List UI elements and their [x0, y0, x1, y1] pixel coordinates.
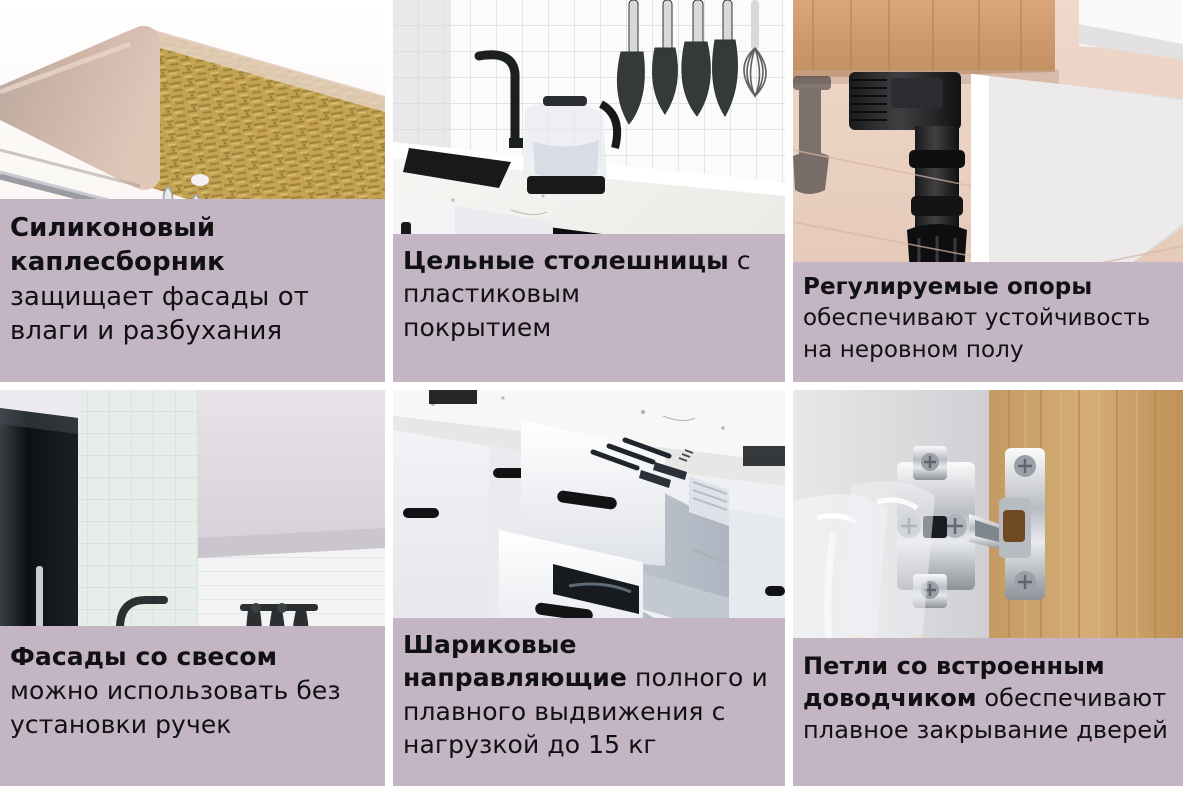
caption-line: на неровном полу	[803, 335, 1173, 366]
caption-bold: Регулируемые опоры	[803, 274, 1092, 300]
caption-bold: каплесборник	[10, 247, 225, 277]
caption-bold: Петли со встроенным	[803, 652, 1105, 680]
caption-regular: плавное закрывание дверей	[803, 716, 1168, 744]
caption-line: направляющие полного и	[403, 661, 775, 694]
caption-bold: доводчиком	[803, 684, 977, 712]
caption-regular: с	[729, 246, 751, 275]
feature-grid: Силиконовый каплесборник защищает фасады…	[0, 0, 1183, 786]
feature-card-overhang-fronts[interactable]: Фасады со свесом можно использовать без …	[0, 390, 385, 786]
card-caption: Шариковые направляющие полного и плавног…	[393, 618, 785, 786]
caption-line: Цельные столешницы с	[403, 244, 775, 277]
caption-line: пластиковым	[403, 277, 775, 310]
caption-line: плавного выдвижения с	[403, 695, 775, 728]
caption-regular: можно использовать без	[10, 676, 341, 705]
caption-bold: Цельные столешницы	[403, 246, 729, 275]
card-caption: Цельные столешницы с пластиковым покрыти…	[393, 234, 785, 382]
caption-line: Фасады со свесом	[10, 640, 375, 674]
caption-line: плавное закрывание дверей	[803, 714, 1173, 746]
caption-line: Шариковые	[403, 628, 775, 661]
caption-line: каплесборник	[10, 245, 375, 279]
caption-line: Регулируемые опоры	[803, 272, 1173, 303]
caption-line: установки ручек	[10, 708, 375, 742]
caption-regular: обеспечивают устойчивость	[803, 305, 1150, 331]
caption-regular: нагрузкой до 15 кг	[403, 730, 657, 759]
caption-regular: пластиковым	[403, 279, 580, 308]
card-caption: Силиконовый каплесборник защищает фасады…	[0, 199, 385, 382]
caption-regular: полного и	[627, 663, 768, 692]
feature-card-drip-catcher[interactable]: Силиконовый каплесборник защищает фасады…	[0, 0, 385, 382]
caption-regular: защищает фасады от	[10, 282, 309, 312]
card-caption: Петли со встроенным доводчиком обеспечив…	[793, 638, 1183, 786]
caption-bold: направляющие	[403, 663, 627, 692]
caption-regular: покрытием	[403, 313, 551, 342]
caption-regular: плавного выдвижения с	[403, 697, 725, 726]
caption-line: влаги и разбухания	[10, 314, 375, 348]
feature-card-solid-countertops[interactable]: Цельные столешницы с пластиковым покрыти…	[393, 0, 785, 382]
caption-line: покрытием	[403, 311, 775, 344]
card-caption: Регулируемые опоры обеспечивают устойчив…	[793, 262, 1183, 382]
caption-regular: установки ручек	[10, 710, 232, 739]
caption-bold: Шариковые	[403, 630, 577, 659]
feature-card-ball-bearing-slides[interactable]: Шариковые направляющие полного и плавног…	[393, 390, 785, 786]
caption-line: можно использовать без	[10, 674, 375, 708]
caption-regular: на неровном полу	[803, 337, 1024, 363]
caption-line: обеспечивают устойчивость	[803, 303, 1173, 334]
caption-line: защищает фасады от	[10, 280, 375, 314]
caption-bold: Фасады со свесом	[10, 642, 277, 671]
feature-card-adjustable-legs[interactable]: Регулируемые опоры обеспечивают устойчив…	[793, 0, 1183, 382]
caption-regular: обеспечивают	[977, 684, 1167, 712]
feature-card-soft-close-hinges[interactable]: Петли со встроенным доводчиком обеспечив…	[793, 390, 1183, 786]
caption-line: Силиконовый	[10, 211, 375, 245]
caption-line: Петли со встроенным	[803, 650, 1173, 682]
card-caption: Фасады со свесом можно использовать без …	[0, 626, 385, 786]
caption-line: нагрузкой до 15 кг	[403, 728, 775, 761]
caption-bold: Силиконовый	[10, 213, 215, 243]
caption-line: доводчиком обеспечивают	[803, 682, 1173, 714]
caption-regular: влаги и разбухания	[10, 316, 282, 346]
